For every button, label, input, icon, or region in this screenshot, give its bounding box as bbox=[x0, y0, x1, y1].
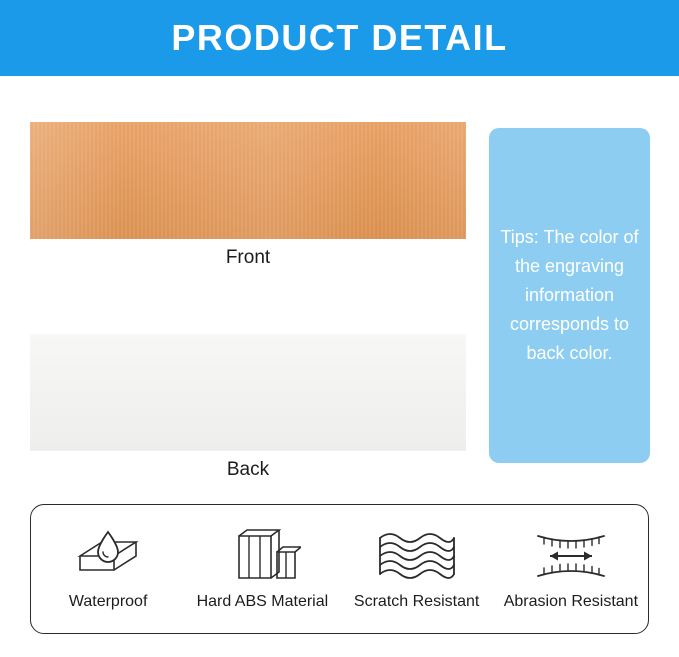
tips-card: Tips: The color of the engraving informa… bbox=[489, 128, 650, 463]
feature-hard-abs-material: Hard ABS Material bbox=[187, 505, 337, 633]
feature-label: Hard ABS Material bbox=[197, 593, 329, 611]
feature-abrasion-resistant: Abrasion Resistant bbox=[496, 505, 646, 633]
front-color-swatch bbox=[30, 122, 466, 239]
feature-label: Abrasion Resistant bbox=[504, 593, 638, 611]
feature-waterproof: Waterproof bbox=[33, 505, 183, 633]
back-caption: Back bbox=[30, 459, 466, 481]
stretch-arrows-icon bbox=[528, 523, 614, 591]
page-title: PRODUCT DETAIL bbox=[171, 17, 507, 59]
feature-label: Scratch Resistant bbox=[354, 593, 479, 611]
front-caption: Front bbox=[30, 247, 466, 269]
product-detail-page: PRODUCT DETAIL Front Back Tips: The colo… bbox=[0, 0, 679, 657]
wavy-lines-icon bbox=[374, 523, 460, 591]
tips-text: Tips: The color of the engraving informa… bbox=[499, 223, 640, 369]
water-drop-icon bbox=[72, 523, 144, 591]
stacked-sheets-icon bbox=[223, 523, 301, 591]
front-swatch-sheen bbox=[30, 122, 466, 239]
back-color-swatch bbox=[30, 334, 466, 451]
features-panel: Waterproof Hard ABS Material bbox=[30, 504, 649, 634]
feature-scratch-resistant: Scratch Resistant bbox=[342, 505, 492, 633]
feature-label: Waterproof bbox=[69, 593, 148, 611]
page-header: PRODUCT DETAIL bbox=[0, 0, 679, 76]
